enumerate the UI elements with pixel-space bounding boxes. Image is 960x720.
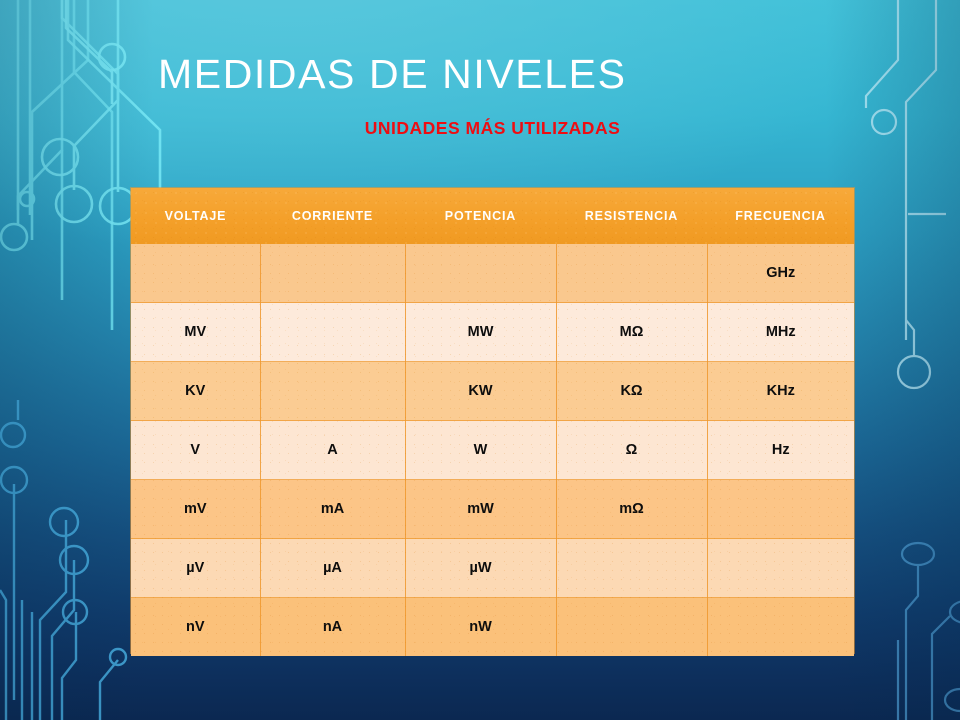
table-row: mV mA mW mΩ: [131, 480, 854, 539]
table-row: GHz: [131, 244, 854, 303]
units-table: VOLTAJE CORRIENTE POTENCIA RESISTENCIA F…: [131, 188, 854, 656]
table-cell: [260, 303, 405, 362]
table-cell: KV: [131, 362, 260, 421]
table-cell: mA: [260, 480, 405, 539]
table-cell: [556, 539, 707, 598]
table-cell: µW: [405, 539, 556, 598]
column-header-potencia: POTENCIA: [405, 188, 556, 244]
table-cell: [556, 244, 707, 303]
column-header-corriente: CORRIENTE: [260, 188, 405, 244]
table-cell: nA: [260, 598, 405, 657]
table-cell: V: [131, 421, 260, 480]
table-cell: mV: [131, 480, 260, 539]
table-cell: [707, 598, 854, 657]
table-row: MV MW MΩ MHz: [131, 303, 854, 362]
table-header: VOLTAJE CORRIENTE POTENCIA RESISTENCIA F…: [131, 188, 854, 244]
table-cell: [707, 480, 854, 539]
table-row: KV KW KΩ KHz: [131, 362, 854, 421]
table-cell: [405, 244, 556, 303]
table-cell: Hz: [707, 421, 854, 480]
table-cell: Ω: [556, 421, 707, 480]
table-cell: KW: [405, 362, 556, 421]
column-header-voltaje: VOLTAJE: [131, 188, 260, 244]
table-cell: [260, 362, 405, 421]
table-cell: [260, 244, 405, 303]
table-row: V A W Ω Hz: [131, 421, 854, 480]
table-cell: nW: [405, 598, 556, 657]
page-title: MEDIDAS DE NIVELES: [158, 54, 627, 95]
table-cell: nV: [131, 598, 260, 657]
table-cell: mW: [405, 480, 556, 539]
table-cell: MHz: [707, 303, 854, 362]
table-cell: [707, 539, 854, 598]
table-cell: [131, 244, 260, 303]
table-header-row: VOLTAJE CORRIENTE POTENCIA RESISTENCIA F…: [131, 188, 854, 244]
table-row: µV µA µW: [131, 539, 854, 598]
column-header-frecuencia: FRECUENCIA: [707, 188, 854, 244]
table-cell: KΩ: [556, 362, 707, 421]
table-cell: µA: [260, 539, 405, 598]
table-cell: MΩ: [556, 303, 707, 362]
table-cell: A: [260, 421, 405, 480]
table-cell: mΩ: [556, 480, 707, 539]
table-body: GHz MV MW MΩ MHz KV KW KΩ KHz V: [131, 244, 854, 656]
table-cell: [556, 598, 707, 657]
table-cell: MW: [405, 303, 556, 362]
table-cell: MV: [131, 303, 260, 362]
table-cell: W: [405, 421, 556, 480]
table-cell: KHz: [707, 362, 854, 421]
table-cell: GHz: [707, 244, 854, 303]
table-row: nV nA nW: [131, 598, 854, 657]
slide-canvas: MEDIDAS DE NIVELES UNIDADES MÁS UTILIZAD…: [0, 0, 960, 720]
units-table-container: VOLTAJE CORRIENTE POTENCIA RESISTENCIA F…: [131, 188, 854, 653]
table-cell: µV: [131, 539, 260, 598]
page-subtitle: UNIDADES MÁS UTILIZADAS: [131, 118, 854, 139]
column-header-resistencia: RESISTENCIA: [556, 188, 707, 244]
